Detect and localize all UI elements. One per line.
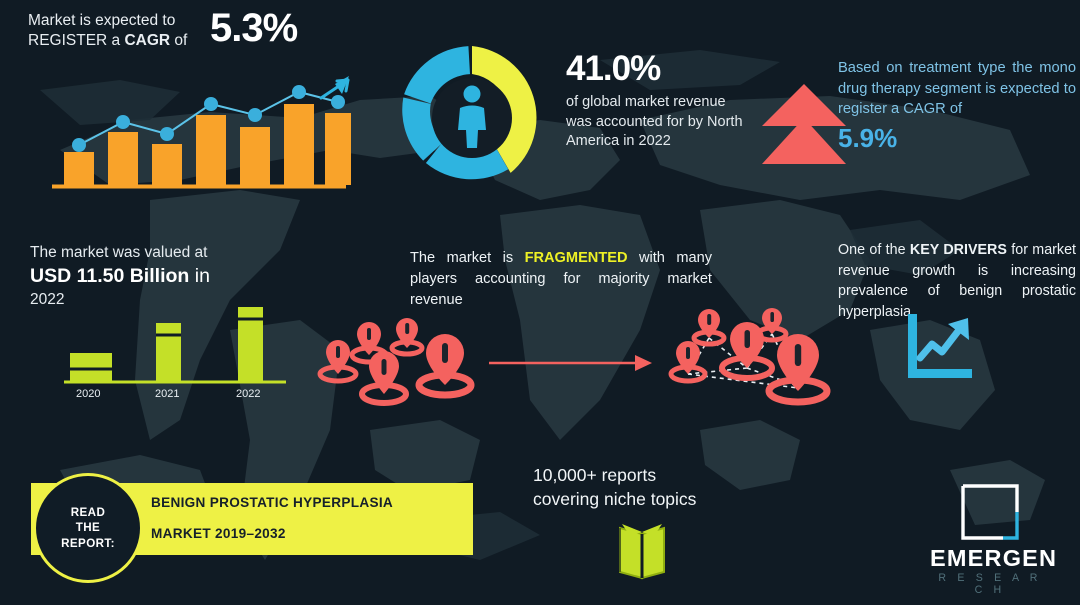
- market-value-line1: The market was valued at: [30, 242, 320, 263]
- cagr-headline: Market is expected to REGISTER a CAGR of…: [28, 8, 358, 53]
- north-america-description: of global market revenue was accounted f…: [566, 93, 746, 152]
- fragmented-highlight: FRAGMENTED: [525, 250, 628, 266]
- tick-2022: 2022: [236, 388, 260, 400]
- market-value-block: The market was valued at USD 11.50 Billi…: [30, 242, 320, 310]
- fragmented-market-block: The market is FRAGMENTED with many playe…: [410, 248, 712, 311]
- infographic-canvas: Market is expected to REGISTER a CAGR of…: [0, 0, 1080, 605]
- north-america-value: 41.0%: [566, 48, 746, 90]
- market-value-line2: USD 11.50 Billion in: [30, 263, 320, 289]
- badge-line3: REPORT:: [61, 537, 115, 550]
- logo-subtitle: R E S E A R C H: [930, 572, 1050, 596]
- reports-count-text: 10,000+ reports covering niche topics: [533, 463, 763, 511]
- emergen-research-logo: EMERGEN R E S E A R C H: [930, 482, 1050, 588]
- key-drivers-pre: One of the: [838, 242, 910, 258]
- fragmented-pre: The market is: [410, 250, 525, 266]
- map-pin: [419, 334, 471, 395]
- cagr-line2-pre: REGISTER a: [28, 32, 124, 49]
- double-up-arrow-icon: [760, 78, 848, 170]
- market-growth-trend-chart: [46, 72, 351, 190]
- key-drivers-bold: KEY DRIVERS: [910, 242, 1007, 258]
- right-arrow-icon: [487, 350, 652, 376]
- open-book-icon: [610, 520, 674, 582]
- treatment-type-text: Based on treatment type the mono drug th…: [838, 58, 1076, 120]
- axis-tick-labels: 2020 2021 2022: [76, 388, 260, 400]
- square-outline-mark: [959, 482, 1021, 542]
- cagr-value: 5.3%: [210, 6, 297, 51]
- reports-line2: covering niche topics: [533, 489, 696, 509]
- cagr-line2-post: of: [170, 32, 187, 49]
- report-title-line2: MARKET 2019–2032: [151, 526, 286, 541]
- growth-chart-icon: [900, 310, 978, 382]
- reports-count-block: 10,000+ reports covering niche topics: [533, 463, 763, 511]
- logo-wordmark: EMERGEN: [930, 545, 1050, 571]
- map-pin: [320, 340, 356, 381]
- cagr-line2-bold: CAGR: [124, 32, 170, 49]
- cagr-label: Market is expected to REGISTER a CAGR of: [28, 11, 206, 51]
- map-pin: [362, 351, 406, 403]
- badge-line1: READ: [71, 506, 105, 519]
- read-the-report-badge[interactable]: READ THE REPORT:: [33, 473, 143, 583]
- fragmented-market-text: The market is FRAGMENTED with many playe…: [410, 248, 712, 311]
- tick-2020: 2020: [76, 388, 100, 400]
- cagr-line1: Market is expected to: [28, 12, 175, 29]
- report-title-line1: BENIGN PROSTATIC HYPERPLASIA: [151, 495, 393, 510]
- market-value-amount: USD 11.50 Billion: [30, 265, 189, 287]
- map-pin: [392, 318, 422, 354]
- regional-revenue-donut-chart: [392, 38, 552, 198]
- read-the-report-label: READ THE REPORT:: [61, 505, 115, 552]
- bars: [64, 104, 351, 185]
- treatment-cagr-value: 5.9%: [838, 122, 1076, 154]
- logo-mark-icon: [959, 482, 1021, 542]
- scattered-map-pins: [312, 312, 492, 412]
- market-value-by-year-chart: 2020 2021 2022: [60, 305, 290, 400]
- tick-2021: 2021: [155, 388, 179, 400]
- north-america-share-block: 41.0% of global market revenue was accou…: [566, 48, 746, 152]
- treatment-type-block: Based on treatment type the mono drug th…: [838, 58, 1076, 154]
- reports-line1: 10,000+ reports: [533, 465, 656, 485]
- badge-line2: THE: [76, 521, 100, 534]
- connected-map-pins-network: [662, 306, 842, 416]
- market-value-line2-post: in: [189, 265, 210, 287]
